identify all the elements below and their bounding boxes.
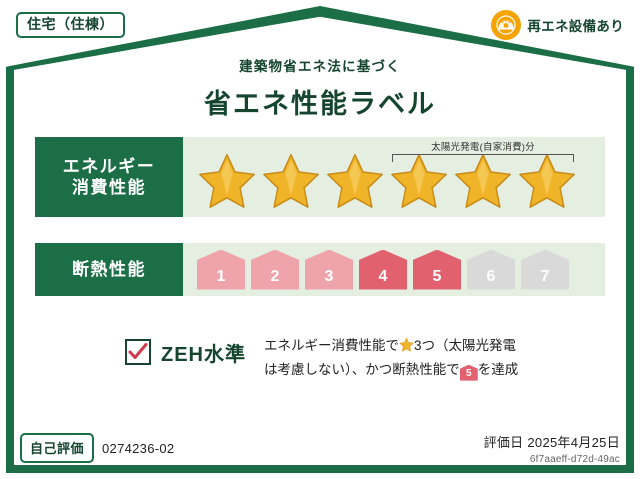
zeh-title: ZEH水準	[161, 338, 246, 367]
zeh-desc-line2-b: を達成	[478, 362, 519, 377]
title-subtitle: 建築物省エネ法に基づく	[0, 55, 640, 75]
mini-insulation-chip: 5	[460, 365, 478, 381]
energy-performance-panel: エネルギー 消費性能 太陽光発電(自家消費)分	[35, 137, 605, 217]
renewable-energy-label: 再エネ設備あり	[527, 15, 624, 35]
insulation-chip: 6	[467, 250, 515, 290]
star-icon	[261, 151, 321, 209]
insulation-chip: 1	[197, 250, 245, 290]
title-block: 建築物省エネ法に基づく 省エネ性能ラベル	[0, 55, 640, 121]
category-badge: 住宅（住棟）	[16, 12, 125, 38]
insulation-chip: 4	[359, 250, 407, 290]
star-icon	[325, 151, 385, 209]
zeh-checkbox[interactable]	[125, 339, 151, 365]
energy-performance-label-box: エネルギー 消費性能	[35, 137, 183, 217]
insulation-chip: 7	[521, 250, 569, 290]
check-icon	[128, 343, 148, 361]
energy-label-line2: 消費性能	[72, 177, 146, 198]
zeh-desc-line1-a: エネルギー消費性能で	[264, 338, 399, 353]
zeh-description: エネルギー消費性能で3つ（太陽光発電 は考慮しない）、かつ断熱性能で5を達成	[264, 335, 518, 381]
insulation-performance-label-box: 断熱性能	[35, 243, 183, 296]
zeh-desc-line2-a: は考慮しない）、かつ断熱性能で	[264, 362, 460, 377]
insulation-chips-row: 1 2 3 4 5 6 7	[183, 250, 569, 290]
insulation-label: 断熱性能	[72, 259, 146, 280]
energy-performance-body: 太陽光発電(自家消費)分	[183, 137, 605, 217]
insulation-chip: 2	[251, 250, 299, 290]
zeh-desc-line1-b: 3つ（太陽光発電	[414, 338, 516, 353]
evaluation-footer-right: 評価日 2025年4月25日 6f7aaeff-d72d-49ac	[484, 432, 620, 465]
energy-performance-label: 住宅（住棟） 再エネ設備あり 建築物省エネ法に基づく 省エネ性能ラベル エネルギ…	[0, 0, 640, 479]
solar-share-note: 太陽光発電(自家消費)分	[392, 139, 574, 153]
energy-label-line1: エネルギー	[63, 156, 156, 177]
mini-star-icon	[399, 337, 414, 359]
insulation-chip: 3	[305, 250, 353, 290]
evaluation-date: 評価日 2025年4月25日	[484, 432, 620, 451]
page-title: 省エネ性能ラベル	[0, 82, 640, 121]
evaluation-type-badge: 自己評価	[20, 433, 94, 463]
insulation-performance-panel: 断熱性能 1 2 3 4 5 6 7	[35, 243, 605, 296]
solar-share-annotation: 太陽光発電(自家消費)分	[392, 139, 574, 162]
renewable-energy-badge: 再エネ設備あり	[491, 10, 624, 40]
evaluation-hash: 6f7aaeff-d72d-49ac	[484, 454, 620, 465]
evaluation-footer-left: 自己評価 0274236-02	[20, 433, 174, 463]
zeh-section: ZEH水準 エネルギー消費性能で3つ（太陽光発電 は考慮しない）、かつ断熱性能で…	[125, 333, 518, 381]
bracket-line	[392, 154, 574, 162]
star-icon	[197, 151, 257, 209]
evaluation-number: 0274236-02	[102, 441, 174, 456]
insulation-performance-body: 1 2 3 4 5 6 7	[183, 243, 605, 296]
sun-icon	[491, 10, 521, 40]
insulation-chip: 5	[413, 250, 461, 290]
